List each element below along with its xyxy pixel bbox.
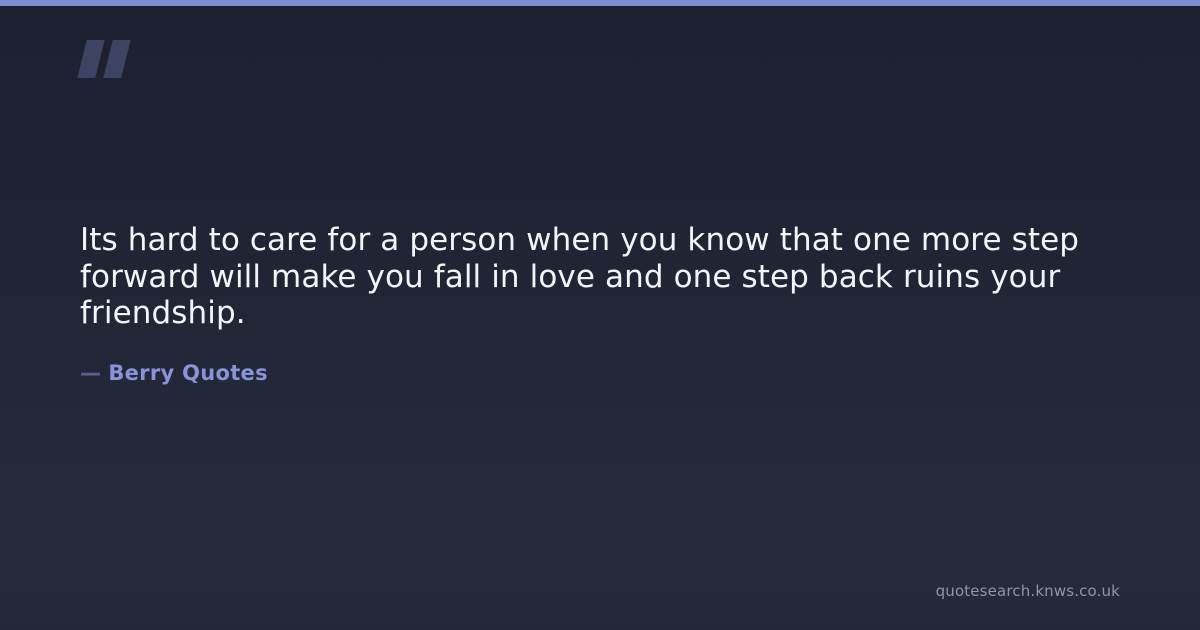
attribution-author: Berry Quotes [108,361,268,385]
quote-mark-stroke-left [77,40,104,78]
quote-card: Its hard to care for a person when you k… [0,0,1200,630]
top-accent-bar [0,0,1200,6]
source-url: quotesearch.knws.co.uk [936,582,1120,600]
quote-body: Its hard to care for a person when you k… [80,222,1120,386]
quote-text: Its hard to care for a person when you k… [80,222,1120,332]
attribution-dash: — [80,361,108,385]
quote-mark-stroke-right [103,40,130,78]
left-double-quotation-mark-icon [80,36,140,84]
quote-attribution: —Berry Quotes [80,332,1120,386]
